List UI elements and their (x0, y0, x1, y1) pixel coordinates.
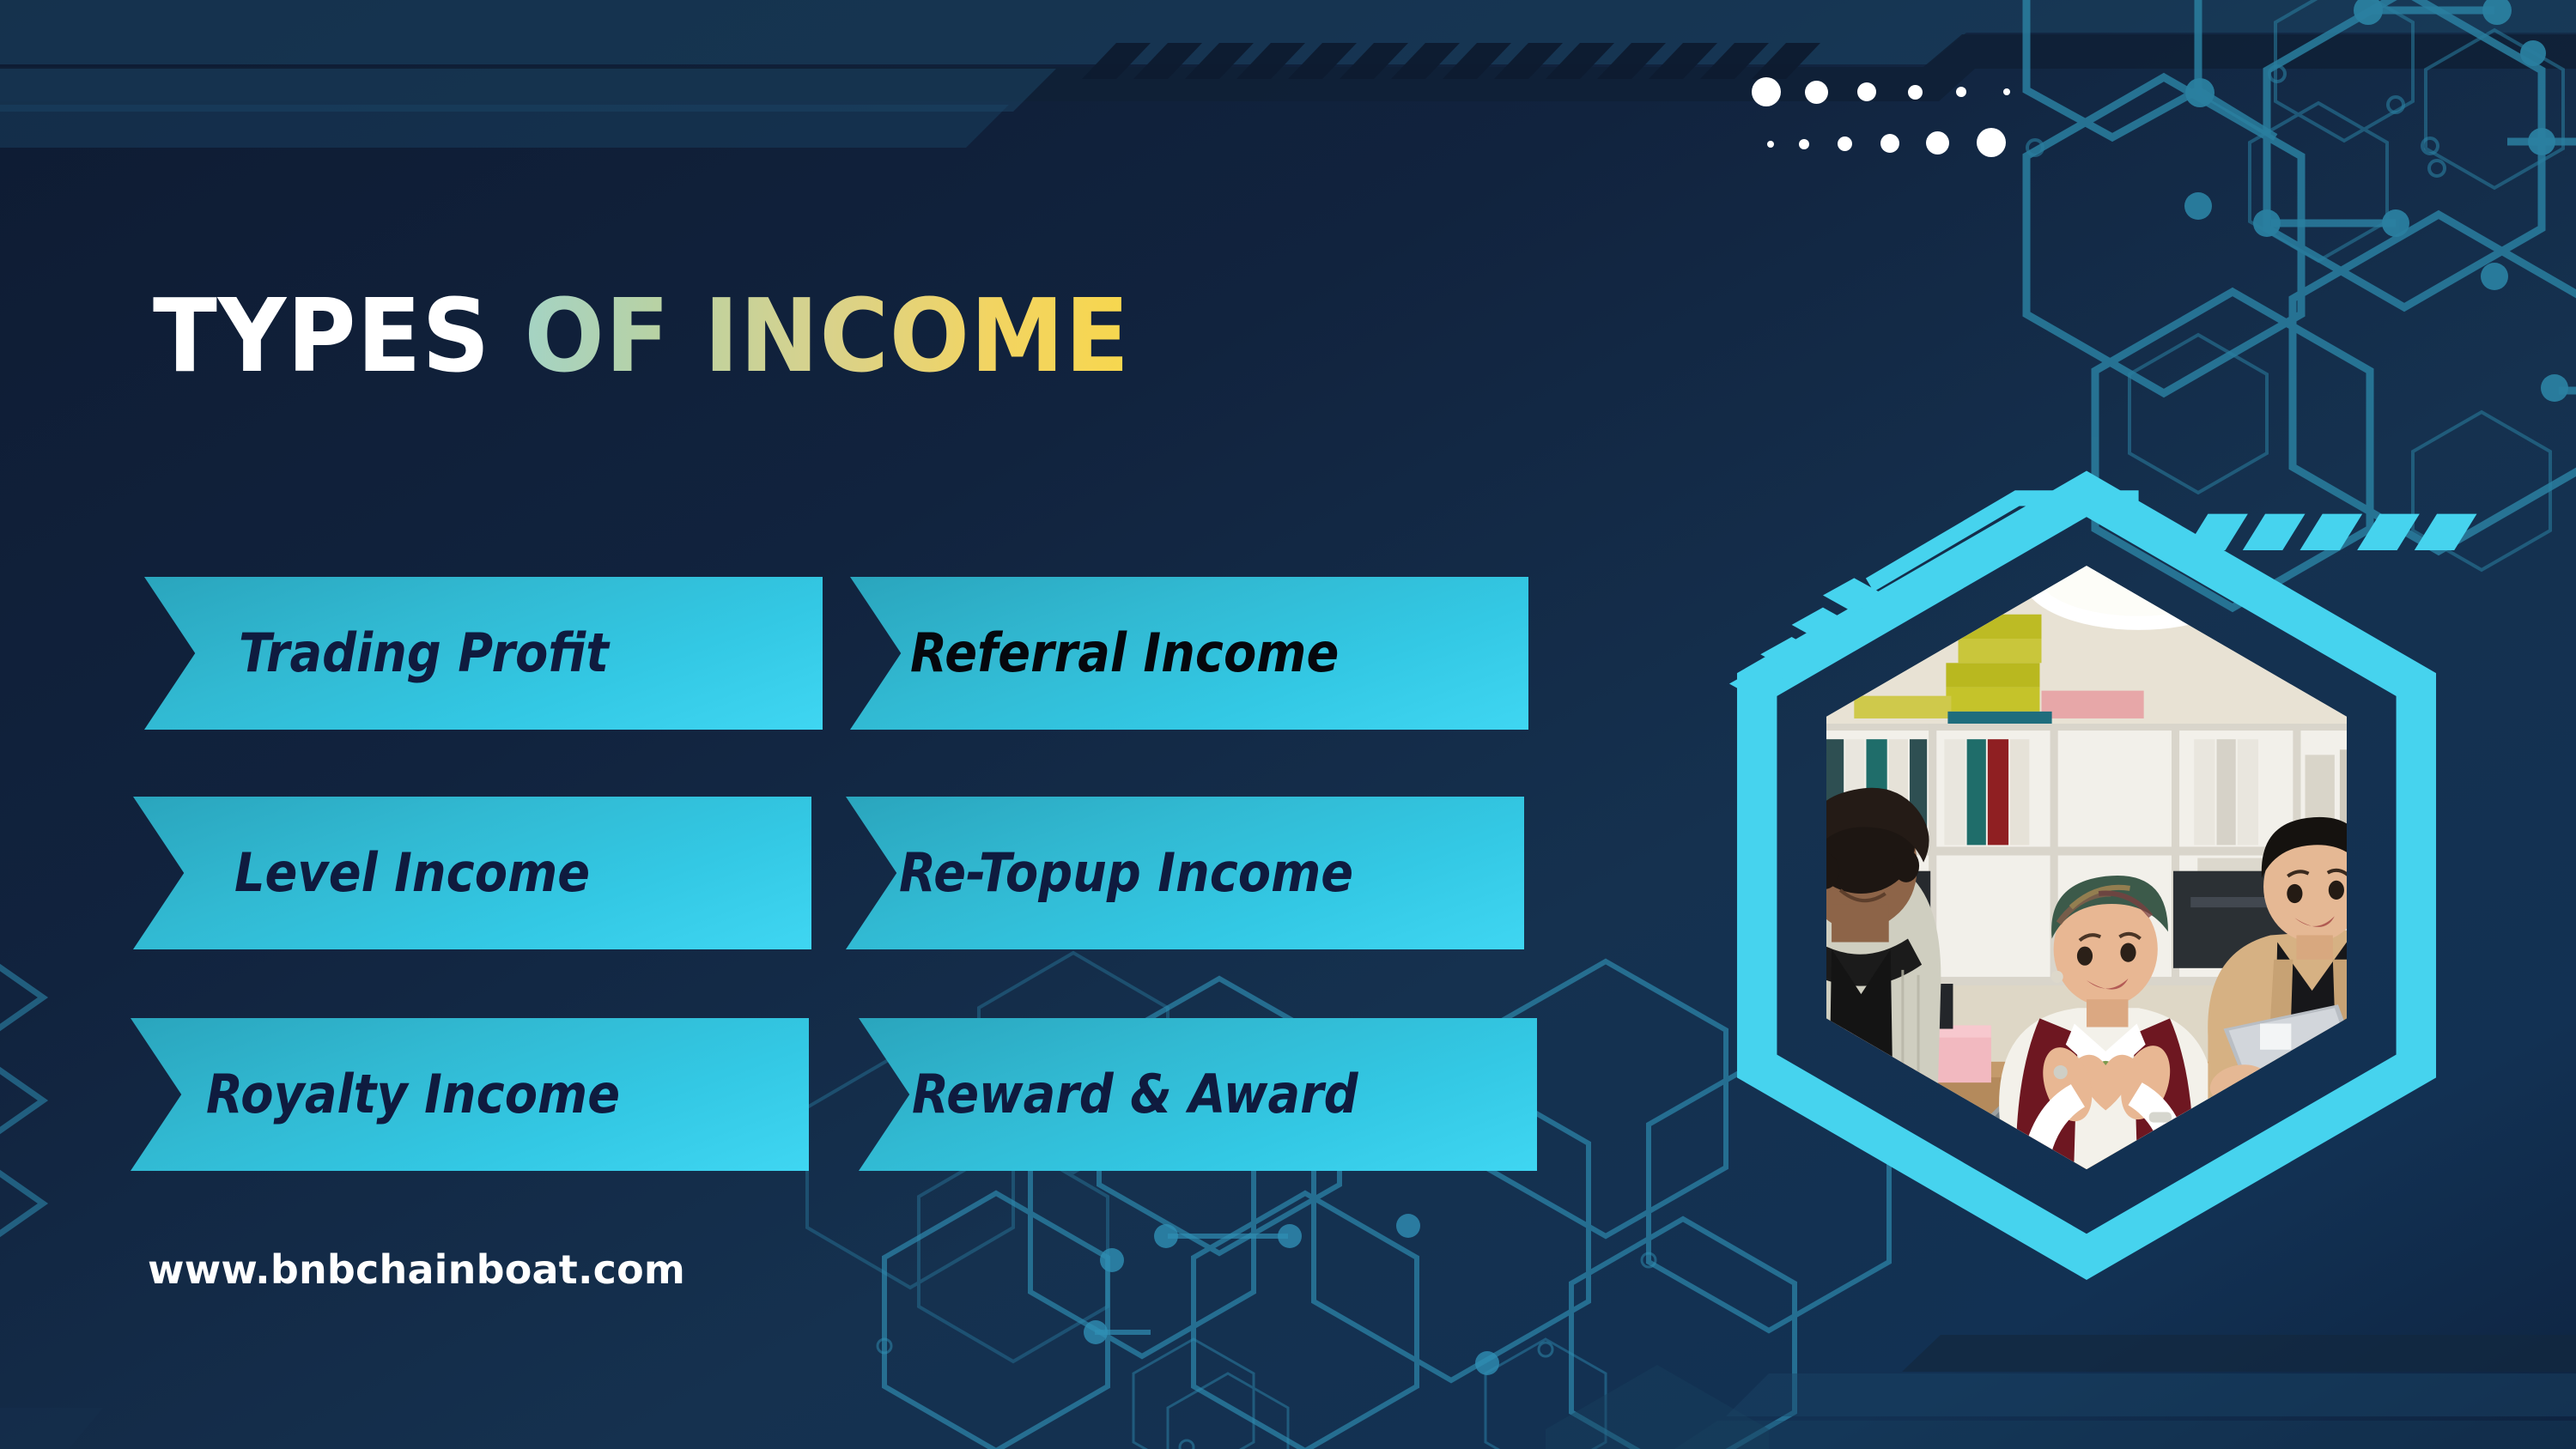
badge-level-income[interactable]: Level Income (133, 797, 811, 949)
badge-royalty-income[interactable]: Royalty Income (131, 1018, 809, 1171)
badge-re-topup-income[interactable]: Re-Topup Income (846, 797, 1524, 949)
badge-referral-income[interactable]: Referral Income (850, 577, 1528, 730)
dot-top-3 (1857, 82, 1876, 101)
dot-bottom-4 (1880, 134, 1899, 153)
top-left-tech-bands (0, 0, 2576, 215)
dot-top-2 (1805, 81, 1828, 104)
badge-label: Trading Profit (239, 627, 609, 680)
badge-label: Referral Income (910, 627, 1339, 680)
title-primary: TYPES (153, 276, 490, 395)
dot-top-5 (1956, 87, 1966, 97)
dot-top-1 (1752, 77, 1781, 106)
badge-label: Reward & Award (912, 1068, 1358, 1121)
dot-cluster-decoration (1752, 76, 2026, 170)
dot-top-4 (1908, 85, 1923, 100)
website-url[interactable]: www.bnbchainboat.com (148, 1246, 685, 1293)
hexagon-photo-frame (1653, 464, 2520, 1331)
badge-label: Level Income (234, 846, 590, 900)
dot-bottom-1 (1767, 141, 1774, 148)
badge-trading-profit[interactable]: Trading Profit (144, 577, 823, 730)
dot-bottom-3 (1838, 136, 1852, 151)
left-chevron-marks (0, 961, 43, 1240)
badge-label: Royalty Income (206, 1068, 620, 1121)
bottom-right-tech-bands (1674, 1335, 2576, 1449)
poster-canvas: TYPES OF INCOME Trading Profit Level Inc… (0, 0, 2576, 1449)
dot-bottom-2 (1799, 139, 1809, 149)
page-title: TYPES OF INCOME (153, 285, 1204, 386)
title-accent: OF INCOME (490, 276, 1130, 395)
dot-bottom-6 (1977, 128, 2006, 157)
badge-reward-and-award[interactable]: Reward & Award (859, 1018, 1537, 1171)
bottom-left-stripes (0, 1408, 103, 1449)
dot-top-6 (2003, 88, 2010, 95)
dot-bottom-5 (1926, 131, 1949, 155)
badge-label: Re-Topup Income (899, 846, 1353, 900)
